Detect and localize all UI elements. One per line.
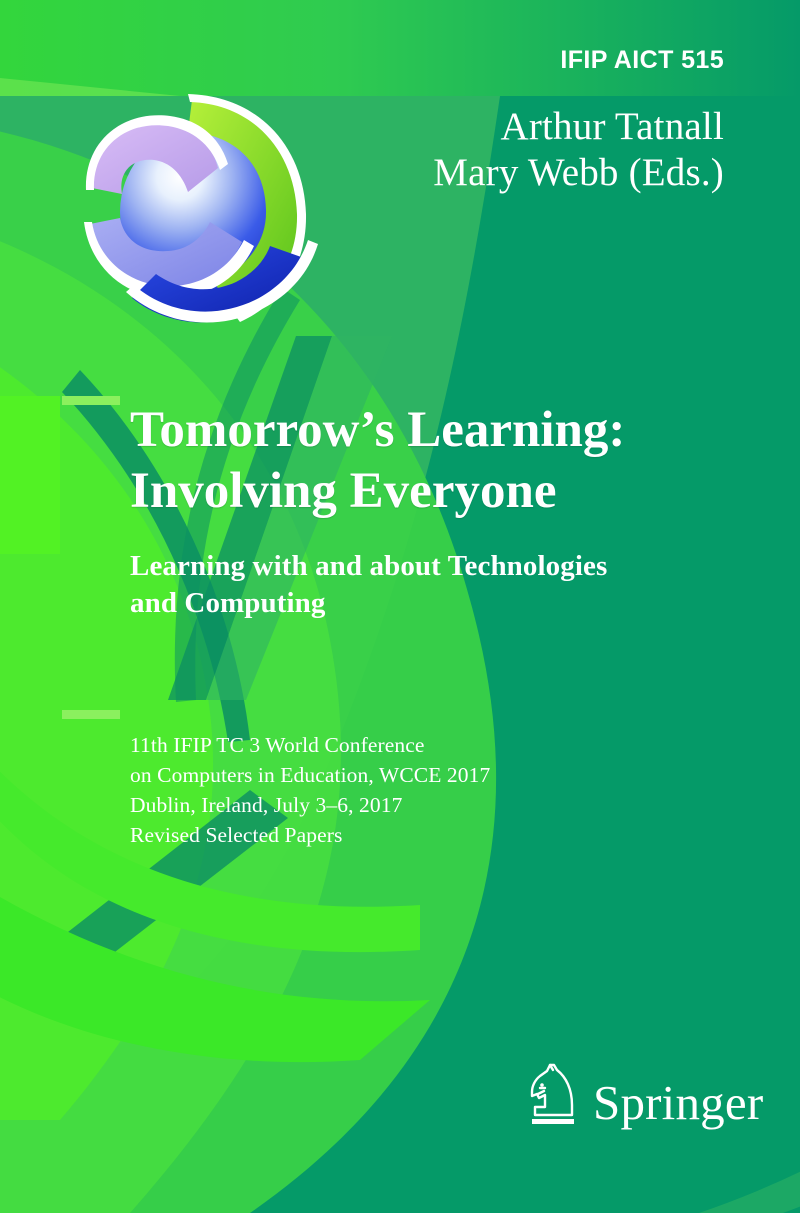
- series-label: IFIP AICT 515: [560, 46, 724, 75]
- conference-line-3: Dublin, Ireland, July 3–6, 2017: [130, 790, 490, 820]
- title-line-2: Involving Everyone: [130, 461, 625, 522]
- conference-details: 11th IFIP TC 3 World Conference on Compu…: [130, 730, 490, 850]
- page-subtitle: Learning with and about Technologies and…: [130, 548, 607, 622]
- page-title: Tomorrow’s Learning: Involving Everyone: [130, 400, 625, 522]
- conference-line-4: Revised Selected Papers: [130, 820, 490, 850]
- subtitle-line-2: and Computing: [130, 585, 607, 622]
- editor-line-1: Arthur Tatnall: [433, 104, 724, 150]
- ifip-globe-logo-icon: [84, 92, 326, 332]
- springer-knight-icon: [527, 1061, 579, 1127]
- book-cover: IFIP AICT 515 Arthur Tatnall Mary Webb (…: [0, 0, 800, 1213]
- publisher-name: Springer: [593, 1079, 763, 1127]
- publisher-logo: Springer: [527, 1061, 763, 1127]
- title-line-1: Tomorrow’s Learning:: [130, 400, 625, 461]
- conference-line-2: on Computers in Education, WCCE 2017: [130, 760, 490, 790]
- subtitle-line-1: Learning with and about Technologies: [130, 548, 607, 585]
- conference-line-1: 11th IFIP TC 3 World Conference: [130, 730, 490, 760]
- editors-block: Arthur Tatnall Mary Webb (Eds.): [433, 104, 724, 195]
- editor-line-2: Mary Webb (Eds.): [433, 150, 724, 196]
